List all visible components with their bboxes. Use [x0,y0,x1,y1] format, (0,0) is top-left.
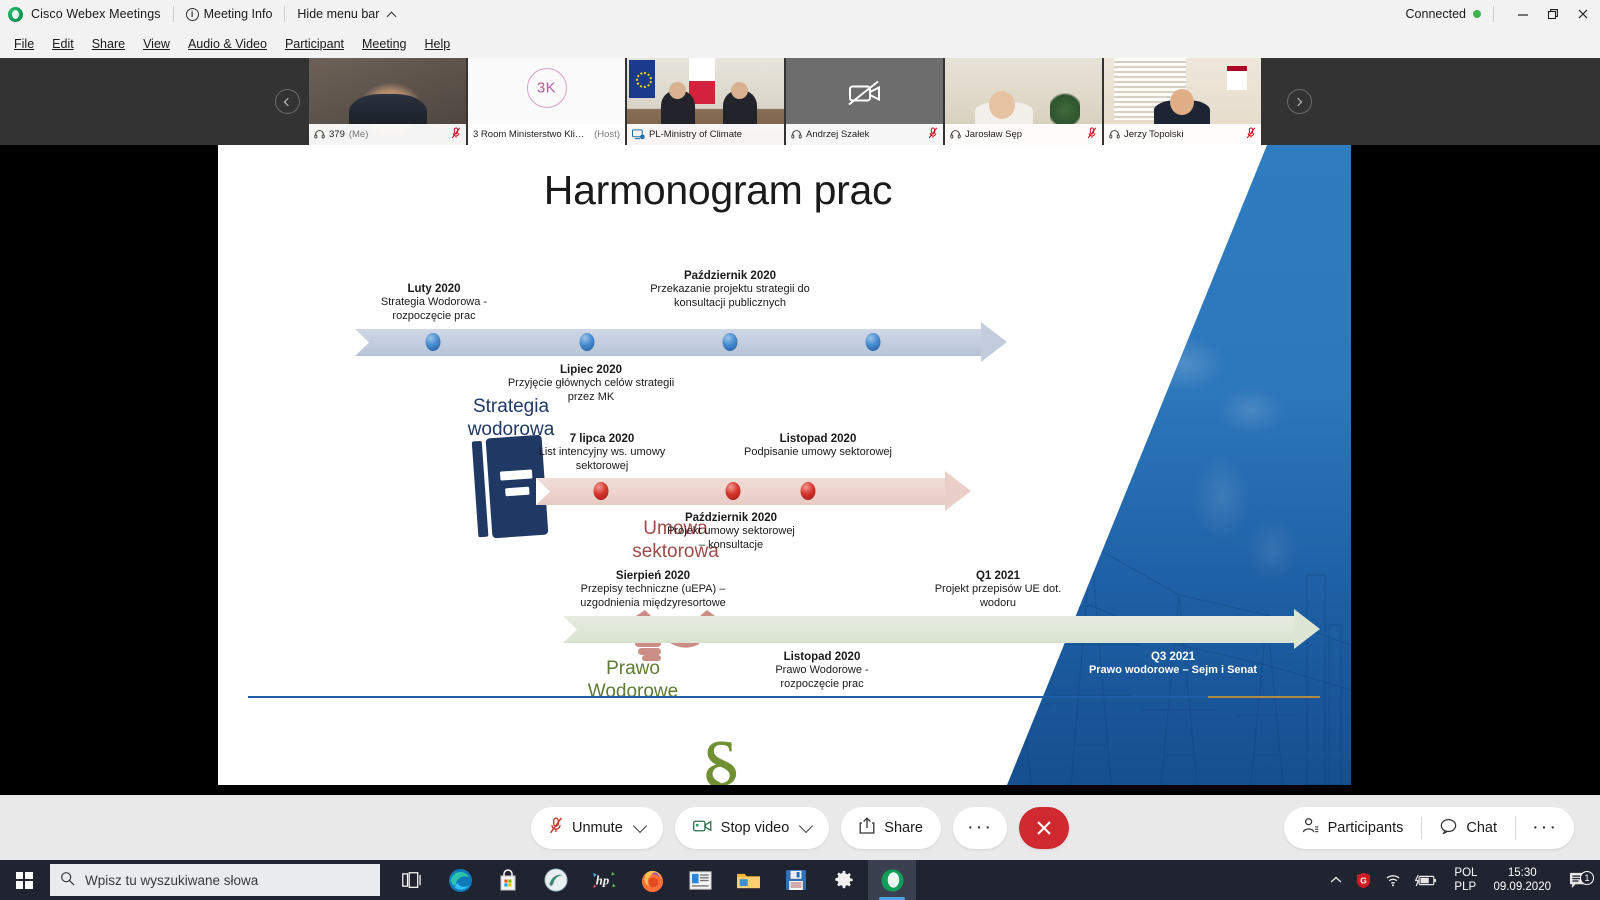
menu-participant[interactable]: Participant [276,33,353,55]
strip-next-button[interactable] [1277,58,1321,145]
stop-video-label: Stop video [721,820,790,836]
app-title: Cisco Webex Meetings [31,7,161,21]
presentation-slide[interactable]: Harmonogram prac Strategia wodorowa [218,145,1351,785]
headset-icon [791,129,802,140]
shared-content-stage: Harmonogram prac Strategia wodorowa [0,145,1600,795]
milestone-text: Projekt przepisów UE dot. wodoru [918,583,1078,611]
chevron-right-icon [1287,89,1312,114]
timeline-track-prawo [563,616,1320,643]
minimize-button[interactable] [1508,0,1538,28]
milestone-dot [976,620,991,638]
taskbar-app-icons: hp [388,860,916,900]
security-icon[interactable] [532,860,580,900]
wall-poster-decor [1227,66,1247,90]
chat-label: Chat [1466,820,1497,836]
milestone-text: Projekt umowy sektorowej – konsultacje [666,525,796,553]
milestone-caption: Listopad 2020 Podpisanie umowy sektorowe… [743,432,893,460]
chevron-down-icon[interactable] [633,818,647,832]
track-arrow-tip [945,471,971,511]
slide-divider-line-gold [1208,696,1320,698]
participants-button[interactable]: Participants [1284,807,1422,849]
webex-icon[interactable] [868,860,916,900]
milestone-text: Przekazanie projektu strategii do konsul… [646,283,814,311]
screen-share-icon [632,129,645,140]
menu-bar: File Edit Share View Audio & Video Parti… [0,29,1600,58]
notification-badge: 1 [1580,871,1594,885]
plant-decor [1050,90,1080,124]
menu-audio-video[interactable]: Audio & Video [179,33,276,55]
tile-name: Andrzej Szałek [806,129,869,140]
system-tray: G POL PLP 15:30 09.09.2020 [1323,860,1600,900]
milestone-dot [594,482,609,500]
milestone-dot [723,333,738,351]
task-view-icon[interactable] [388,860,436,900]
menu-help[interactable]: Help [415,33,459,55]
avatar-initials: 3K [537,79,556,96]
mic-muted-icon [1087,127,1097,142]
milestone-caption: Sierpień 2020 Przepisy techniczne (uEPA)… [553,569,753,611]
tile-name: Jerzy Topolski [1124,129,1184,140]
tile-label: Jerzy Topolski [1104,124,1261,145]
milestone-dot [726,482,741,500]
search-icon [60,871,75,889]
milestone-dot [426,333,441,351]
tile-name: PL-Ministry of Climate [649,129,742,140]
webex-logo-icon [8,7,23,22]
menu-share[interactable]: Share [83,33,134,55]
milestone-text: Podpisanie umowy sektorowej [743,446,893,460]
maximize-restore-button[interactable] [1538,0,1568,28]
menu-edit-label: Edit [52,37,74,51]
clock-date: 09.09.2020 [1493,880,1551,894]
milestone-dot [580,333,595,351]
milestone-dot [1146,620,1161,638]
hp-icon[interactable]: hp [580,860,628,900]
chat-bubble-icon [1440,818,1457,838]
tile-label: 3 Room Ministerstwo Klimatu (Host) [468,124,625,145]
camera-icon [693,819,712,837]
milestone-caption: Q3 2021 Prawo wodorowe – Sejm i Senat [1073,650,1273,678]
close-icon [1035,819,1053,837]
milestone-date: Listopad 2020 [743,432,893,446]
meeting-controls-bar: Unmute Stop video [0,795,1600,860]
video-tiles: 379 (Me) 3K 3 Room Ministerstwo Klimatu … [309,58,1261,145]
milestone-dot [801,482,816,500]
milestone-text: Prawo wodorowe – Sejm i Senat [1073,664,1273,678]
menu-participant-label: Participant [285,37,344,51]
secondary-controls: Participants Chat ··· [1284,807,1574,849]
track-bar [355,329,981,356]
menu-meeting[interactable]: Meeting [353,33,415,55]
milestone-dot [634,620,649,638]
menu-edit[interactable]: Edit [43,33,83,55]
title-bar: Cisco Webex Meetings i Meeting Info Hide… [0,0,1600,29]
headset-icon [314,129,325,140]
video-tile-jerzy-topolski[interactable]: Jerzy Topolski [1104,58,1261,145]
menu-help-label: Help [424,37,450,51]
milestone-date: Q1 2021 [918,569,1078,583]
battery-charging-icon[interactable] [1408,874,1444,887]
paragraph-icon: § [696,728,746,785]
milestone-caption: Październik 2020 Projekt umowy sektorowe… [666,511,796,553]
menu-audio-video-label: Audio & Video [188,37,267,51]
track-arrow-tip [981,322,1007,362]
language-indicator[interactable]: POL PLP [1444,866,1483,895]
notifications-button[interactable]: 1 [1561,871,1600,889]
mic-muted-icon [451,127,461,142]
antivirus-shield-icon[interactable]: G [1349,872,1378,889]
track-bar [563,616,1294,643]
tile-label: 379 (Me) [309,124,466,145]
strip-prev-button[interactable] [265,58,309,145]
taskbar-search-input[interactable]: Wpisz tu wyszukiwane słowa [50,864,380,896]
share-upload-icon [859,817,875,838]
participant-video-strip: 379 (Me) 3K 3 Room Ministerstwo Klimatu … [0,58,1600,145]
participants-label: Participants [1328,820,1404,836]
milestone-caption: Luty 2020 Strategia Wodorowa - rozpoczęc… [358,282,510,324]
microsoft-store-icon[interactable] [484,860,532,900]
mic-muted-icon [549,817,563,838]
slide-title: Harmonogram prac [218,167,1218,214]
person-icon [1302,817,1319,838]
person-head [669,82,686,99]
hide-menu-bar-button[interactable]: Hide menu bar [297,7,395,21]
keyboard-layout-line1: POL [1454,866,1477,880]
keyboard-layout-line2: PLP [1454,880,1476,894]
close-button[interactable] [1568,0,1598,28]
milestone-date: Lipiec 2020 [506,363,676,377]
tile-suffix: (Host) [594,129,620,140]
person-head [989,91,1015,119]
wifi-icon[interactable] [1378,873,1408,887]
milestone-caption: Październik 2020 Przekazanie projektu st… [646,269,814,311]
menu-file[interactable]: File [5,33,43,55]
video-tile-andrzej-szalek[interactable]: Andrzej Szałek [786,58,943,145]
edge-icon[interactable] [436,860,484,900]
share-label: Share [884,820,923,836]
svg-text:G: G [1361,875,1368,885]
tile-label: PL-Ministry of Climate [627,124,784,145]
mic-muted-icon [928,127,938,142]
clock-time: 15:30 [1508,866,1537,880]
milestone-date: Luty 2020 [358,282,510,296]
eu-flag-icon [629,60,655,98]
milestone-date: Sierpień 2020 [553,569,753,583]
stop-video-button[interactable]: Stop video [675,807,830,849]
news-icon[interactable] [676,860,724,900]
end-meeting-button[interactable] [1019,807,1069,849]
video-tile-379[interactable]: 379 (Me) [309,58,466,145]
unmute-label: Unmute [572,820,623,836]
chevron-left-icon [275,89,300,114]
meeting-info-button[interactable]: i Meeting Info [186,7,273,21]
show-hidden-icons-button[interactable] [1323,876,1349,885]
windows-taskbar: Wpisz tu wyszukiwane słowa [0,860,1600,900]
slide-divider-line [248,696,1213,698]
menu-view[interactable]: View [134,33,179,55]
chat-button[interactable]: Chat [1422,807,1515,849]
start-button[interactable] [0,860,48,900]
connection-status-dot-icon [1473,10,1481,18]
menu-view-label: View [143,37,170,51]
person-head-2 [731,82,748,99]
person-head [1170,89,1194,115]
tile-name: 379 [329,129,345,140]
mic-muted-icon [1246,127,1256,142]
menu-share-label: Share [92,37,125,51]
video-tile-pl-ministry-of-climate[interactable]: PL-Ministry of Climate [627,58,784,145]
milestone-text: List intencyjny ws. umowy sektorowej [518,446,686,474]
windows-logo-icon [16,872,33,889]
milestone-caption: Lipiec 2020 Przyjęcie głównych celów str… [506,363,676,405]
timeline-track-strategia [355,329,1007,356]
more-panels-label: ··· [1532,816,1558,839]
window-controls-divider [1493,6,1494,22]
track-label-line1: Prawo [558,657,708,680]
slide-background-image [951,145,1351,785]
milestone-text: Prawo Wodorowe - rozpoczęcie prac [747,664,897,692]
chevron-down-icon[interactable] [799,818,813,832]
more-options-label: ··· [967,816,993,839]
unmute-button[interactable]: Unmute [531,807,663,849]
tile-name: Jarosław Sęp [965,129,1022,140]
title-divider-2 [284,6,285,22]
hide-menu-bar-label: Hide menu bar [297,7,379,21]
milestone-date: Q3 2021 [1073,650,1273,664]
headset-icon [1109,129,1120,140]
meeting-info-label: Meeting Info [204,7,273,21]
more-panels-button[interactable]: ··· [1516,807,1574,849]
connection-status-label: Connected [1406,7,1466,21]
chevron-up-icon [387,11,397,21]
panel-buttons: Participants Chat ··· [1284,807,1574,849]
track-arrow-tip [1294,609,1320,649]
primary-controls: Unmute Stop video [531,807,1069,849]
milestone-text: Przepisy techniczne (uEPA) – uzgodnienia… [553,583,753,611]
milestone-text: Przyjęcie głównych celów strategii przez… [506,377,676,405]
video-tile-jaroslaw-sep[interactable]: Jarosław Sęp [945,58,1102,145]
firefox-icon[interactable] [628,860,676,900]
title-divider [173,6,174,22]
info-icon: i [186,8,199,21]
milestone-date: Październik 2020 [646,269,814,283]
search-placeholder: Wpisz tu wyszukiwane słowa [85,873,258,888]
video-tile-room-ministerstwo-klimatu[interactable]: 3K 3 Room Ministerstwo Klimatu (Host) [468,58,625,145]
menu-meeting-label: Meeting [362,37,406,51]
file-explorer-icon[interactable] [724,860,772,900]
more-options-button[interactable]: ··· [953,807,1007,849]
track-label-line2: Wodorowe [558,680,708,703]
tile-label: Andrzej Szałek [786,124,943,145]
share-button[interactable]: Share [841,807,941,849]
clock[interactable]: 15:30 09.09.2020 [1483,866,1561,895]
timeline-track-umowa [536,478,971,505]
milestone-date: Październik 2020 [666,511,796,525]
svg-text:hp: hp [596,874,609,888]
tile-suffix: (Me) [349,129,369,140]
tile-label: Jarosław Sęp [945,124,1102,145]
menu-file-label: File [14,37,34,51]
milestone-caption: 7 lipca 2020 List intencyjny ws. umowy s… [518,432,686,474]
settings-icon[interactable] [820,860,868,900]
milestone-date: 7 lipca 2020 [518,432,686,446]
milestone-text: Strategia Wodorowa - rozpoczęcie prac [358,296,510,324]
milestone-dot [801,620,816,638]
save-icon[interactable] [772,860,820,900]
milestone-date: Listopad 2020 [747,650,897,664]
milestone-caption: Listopad 2020 Prawo Wodorowe - rozpoczęc… [747,650,897,692]
milestone-dot [866,333,881,351]
headset-icon [950,129,961,140]
webex-meeting-window: Cisco Webex Meetings i Meeting Info Hide… [0,0,1600,900]
tile-name: 3 Room Ministerstwo Klimatu [473,129,590,140]
milestone-caption: Q1 2021 Projekt przepisów UE dot. wodoru [918,569,1078,611]
camera-off-icon [848,81,882,112]
